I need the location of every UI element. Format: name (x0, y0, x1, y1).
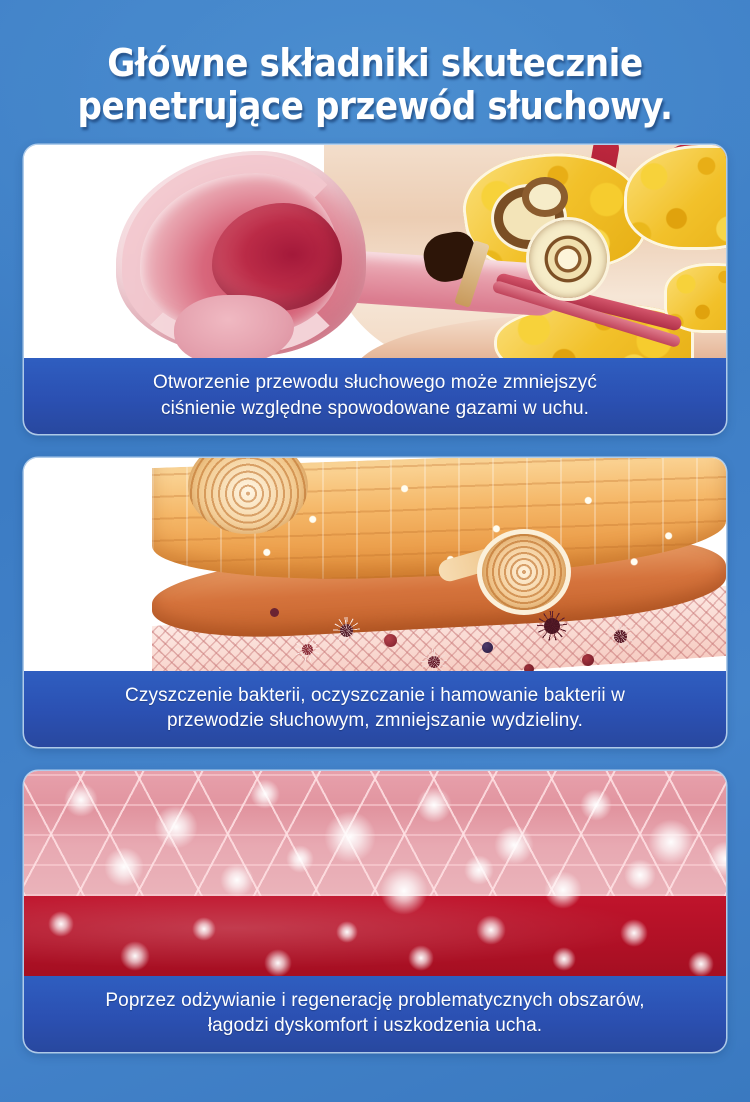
card-caption: Poprzez odżywianie i regenerację problem… (24, 976, 726, 1052)
page-title: Główne składniki skutecznie penetrujące … (61, 42, 689, 127)
bacteria-shape (384, 634, 397, 647)
bacteria-shape (614, 630, 627, 643)
skin-cell-scene (24, 771, 726, 976)
header: Główne składniki skutecznie penetrujące … (0, 0, 750, 145)
ear-anatomy-scene (24, 145, 726, 358)
card-caption: Czyszczenie bakterii, oczyszczanie i ham… (24, 671, 726, 747)
sebaceous-gland-shape (482, 534, 566, 610)
benefit-card: Otworzenie przewodu słuchowego może zmni… (24, 145, 726, 434)
card-caption: Otworzenie przewodu słuchowego może zmni… (24, 358, 726, 434)
cochlea-shape (529, 220, 607, 298)
bacteria-shape (428, 656, 440, 668)
semicircular-canal-shape (522, 177, 568, 217)
epidermis-cell-mesh (24, 771, 726, 896)
bacteria-shape (582, 654, 594, 666)
benefit-card: Poprzez odżywianie i regenerację problem… (24, 771, 726, 1052)
skin-cell-regeneration-illustration (24, 771, 726, 976)
ear-anatomy-illustration (24, 145, 726, 358)
skin-layers-scene (24, 458, 726, 671)
bacteria-shape (482, 642, 493, 653)
benefit-card-list: Otworzenie przewodu słuchowego może zmni… (0, 145, 750, 1052)
bacteria-shape (270, 608, 279, 617)
skin-cross-section (152, 458, 726, 671)
bacteria-shape (544, 618, 560, 634)
dermis-red-layer (24, 896, 726, 976)
bacteria-shape (302, 644, 313, 655)
bacteria-shape (340, 624, 353, 637)
earlobe-shape (174, 295, 294, 358)
benefit-card: Czyszczenie bakterii, oczyszczanie i ham… (24, 458, 726, 747)
skin-bacteria-illustration (24, 458, 726, 671)
bacteria-shape (524, 664, 534, 671)
